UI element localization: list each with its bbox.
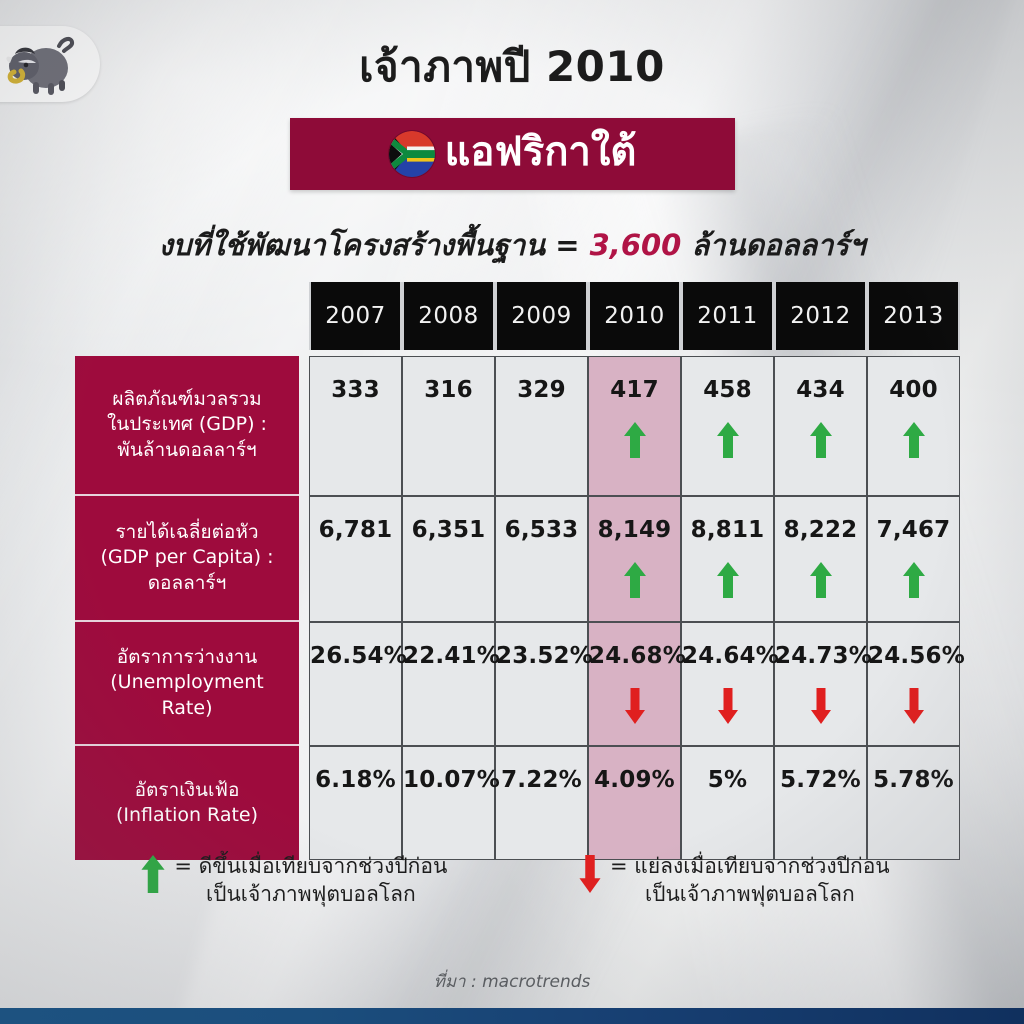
legend-text-worsened: = แย่ลงเมื่อเทียบจากช่วงปีก่อน เป็นเจ้าภ… (610, 852, 890, 909)
label-table-gap (299, 356, 309, 496)
cell-value: 6,533 (496, 519, 587, 542)
cell-unemp-2013: 24.56% (867, 622, 960, 746)
cell-value: 24.68% (589, 645, 680, 668)
source-credit: ที่มา : macrotrends (0, 968, 1024, 995)
trend-up (589, 560, 680, 600)
stats-table-wrapper: 2007 2008 2009 2010 2011 2012 2013 ผลิตภ… (75, 282, 950, 860)
row-label-line: ดอลลาร์ฯ (83, 571, 291, 596)
cell-gdp-2010: 417 (588, 356, 681, 496)
year-header-2013: 2013 (867, 282, 960, 350)
row-label-line: ผลิตภัณฑ์มวลรวม (83, 387, 291, 412)
year-header-2009: 2009 (495, 282, 588, 350)
trend-down (682, 686, 773, 726)
legend-line-1: = แย่ลงเมื่อเทียบจากช่วงปีก่อน (610, 854, 890, 878)
cell-value: 8,222 (775, 519, 866, 542)
trend-up (682, 560, 773, 600)
cell-value: 5.78% (868, 769, 959, 792)
cell-gdppc-2010: 8,149 (588, 496, 681, 622)
cell-gdp-2009: 329 (495, 356, 588, 496)
row-label-line: พันล้านดอลลาร์ฯ (83, 438, 291, 463)
stats-table-body: ผลิตภัณฑ์มวลรวม ในประเทศ (GDP) : พันล้าน… (75, 356, 960, 860)
cell-gdp-2013: 400 (867, 356, 960, 496)
south-africa-flag-icon (389, 131, 435, 177)
year-header-2007: 2007 (309, 282, 402, 350)
cell-gdppc-2008: 6,351 (402, 496, 495, 622)
arrow-down-icon (717, 687, 739, 725)
arrow-up-icon (902, 561, 926, 599)
legend: = ดีขึ้นเมื่อเทียบจากช่วงปีก่อน เป็นเจ้า… (75, 852, 955, 909)
cell-value: 329 (496, 379, 587, 402)
budget-unit: ล้านดอลลาร์ฯ (681, 228, 865, 262)
cell-value: 8,811 (682, 519, 773, 542)
arrow-down-icon (810, 687, 832, 725)
table-header-row: 2007 2008 2009 2010 2011 2012 2013 (75, 282, 960, 350)
cell-value: 333 (310, 379, 401, 402)
arrow-up-icon (716, 421, 740, 459)
cell-gdp-2007: 333 (309, 356, 402, 496)
label-table-gap (299, 746, 309, 860)
cell-gdp-2008: 316 (402, 356, 495, 496)
cell-value: 8,149 (589, 519, 680, 542)
cell-infl-2013: 5.78% (867, 746, 960, 860)
trend-up (682, 420, 773, 460)
legend-line-2: เป็นเจ้าภาพฟุตบอลโลก (610, 880, 890, 908)
row-label-inflation: อัตราเงินเฟ้อ (Inflation Rate) (75, 746, 299, 860)
cell-value: 400 (868, 379, 959, 402)
row-label-gdp-per-capita: รายได้เฉลี่ยต่อหัว (GDP per Capita) : ดอ… (75, 496, 299, 622)
arrow-down-icon (578, 854, 602, 898)
budget-label: งบที่ใช้พัฒนาโครงสร้างพื้นฐาน = (159, 228, 590, 262)
header-corner-empty (75, 282, 299, 350)
year-header-2012: 2012 (774, 282, 867, 350)
arrow-up-icon (140, 854, 166, 898)
cell-value: 24.56% (868, 645, 959, 668)
cell-value: 10.07% (403, 769, 494, 792)
cell-value: 417 (589, 379, 680, 402)
cell-gdppc-2013: 7,467 (867, 496, 960, 622)
cell-value: 6,351 (403, 519, 494, 542)
cell-infl-2011: 5% (681, 746, 774, 860)
year-header-2008: 2008 (402, 282, 495, 350)
cell-value: 434 (775, 379, 866, 402)
table-row: ผลิตภัณฑ์มวลรวม ในประเทศ (GDP) : พันล้าน… (75, 356, 960, 496)
row-label-line: (Unemployment Rate) (83, 670, 291, 720)
year-header-2011: 2011 (681, 282, 774, 350)
cell-value: 6.18% (310, 769, 401, 792)
row-label-gdp: ผลิตภัณฑ์มวลรวม ในประเทศ (GDP) : พันล้าน… (75, 356, 299, 496)
trend-down (775, 686, 866, 726)
arrow-up-icon (809, 421, 833, 459)
table-row: อัตราเงินเฟ้อ (Inflation Rate) 6.18% 10.… (75, 746, 960, 860)
arrow-up-icon (716, 561, 740, 599)
cell-value: 24.64% (682, 645, 773, 668)
trend-up (775, 560, 866, 600)
cell-unemp-2011: 24.64% (681, 622, 774, 746)
cell-value: 6,781 (310, 519, 401, 542)
row-label-line: ในประเทศ (GDP) : (83, 412, 291, 437)
cell-gdppc-2012: 8,222 (774, 496, 867, 622)
cell-unemp-2012: 24.73% (774, 622, 867, 746)
year-header-2010: 2010 (588, 282, 681, 350)
cell-value: 23.52% (496, 645, 587, 668)
cell-value: 5.72% (775, 769, 866, 792)
arrow-down-icon (903, 687, 925, 725)
country-name: แอฟริกาใต้ (445, 132, 637, 176)
cell-value: 7.22% (496, 769, 587, 792)
row-label-unemployment: อัตราการว่างงาน (Unemployment Rate) (75, 622, 299, 746)
header-gap (299, 282, 309, 350)
cell-gdppc-2011: 8,811 (681, 496, 774, 622)
legend-line-2: เป็นเจ้าภาพฟุตบอลโลก (174, 880, 447, 908)
arrow-down-icon (624, 687, 646, 725)
cell-value: 22.41% (403, 645, 494, 668)
trend-down (589, 686, 680, 726)
legend-item-improved: = ดีขึ้นเมื่อเทียบจากช่วงปีก่อน เป็นเจ้า… (140, 852, 447, 909)
cell-unemp-2009: 23.52% (495, 622, 588, 746)
label-table-gap (299, 496, 309, 622)
table-row: รายได้เฉลี่ยต่อหัว (GDP per Capita) : ดอ… (75, 496, 960, 622)
cell-gdppc-2007: 6,781 (309, 496, 402, 622)
cell-infl-2009: 7.22% (495, 746, 588, 860)
row-label-line: รายได้เฉลี่ยต่อหัว (83, 520, 291, 545)
cell-value: 5% (682, 769, 773, 792)
label-table-gap (299, 622, 309, 746)
cell-infl-2008: 10.07% (402, 746, 495, 860)
cell-infl-2007: 6.18% (309, 746, 402, 860)
cell-value: 7,467 (868, 519, 959, 542)
arrow-up-icon (809, 561, 833, 599)
stats-table: 2007 2008 2009 2010 2011 2012 2013 ผลิตภ… (75, 282, 960, 860)
country-banner: แอฟริกาใต้ (290, 118, 735, 190)
arrow-up-icon (623, 561, 647, 599)
cell-unemp-2008: 22.41% (402, 622, 495, 746)
legend-line-1: = ดีขึ้นเมื่อเทียบจากช่วงปีก่อน (174, 854, 447, 878)
cell-value: 26.54% (310, 645, 401, 668)
budget-amount: 3,600 (590, 228, 682, 262)
cell-gdp-2011: 458 (681, 356, 774, 496)
row-label-line: (GDP per Capita) : (83, 545, 291, 570)
trend-up (589, 420, 680, 460)
cell-infl-2010: 4.09% (588, 746, 681, 860)
cell-unemp-2010: 24.68% (588, 622, 681, 746)
table-row: อัตราการว่างงาน (Unemployment Rate) 26.5… (75, 622, 960, 746)
trend-up (868, 420, 959, 460)
trend-up (868, 560, 959, 600)
cell-unemp-2007: 26.54% (309, 622, 402, 746)
legend-item-worsened: = แย่ลงเมื่อเทียบจากช่วงปีก่อน เป็นเจ้าภ… (578, 852, 890, 909)
bottom-color-bar (0, 1008, 1024, 1024)
budget-line: งบที่ใช้พัฒนาโครงสร้างพื้นฐาน = 3,600 ล้… (0, 222, 1024, 268)
legend-text-improved: = ดีขึ้นเมื่อเทียบจากช่วงปีก่อน เป็นเจ้า… (174, 852, 447, 909)
cell-gdppc-2009: 6,533 (495, 496, 588, 622)
row-label-line: อัตราการว่างงาน (83, 645, 291, 670)
arrow-up-icon (623, 421, 647, 459)
page-title: เจ้าภาพปี 2010 (0, 44, 1024, 90)
infographic-page: เจ้าภาพปี 2010 แอฟริกาใต้ งบที่ใช้พั (0, 0, 1024, 1024)
cell-infl-2012: 5.72% (774, 746, 867, 860)
cell-gdp-2012: 434 (774, 356, 867, 496)
cell-value: 316 (403, 379, 494, 402)
cell-value: 458 (682, 379, 773, 402)
row-label-line: อัตราเงินเฟ้อ (83, 778, 291, 803)
cell-value: 4.09% (589, 769, 680, 792)
row-label-line: (Inflation Rate) (83, 803, 291, 828)
trend-up (775, 420, 866, 460)
arrow-up-icon (902, 421, 926, 459)
cell-value: 24.73% (775, 645, 866, 668)
trend-down (868, 686, 959, 726)
